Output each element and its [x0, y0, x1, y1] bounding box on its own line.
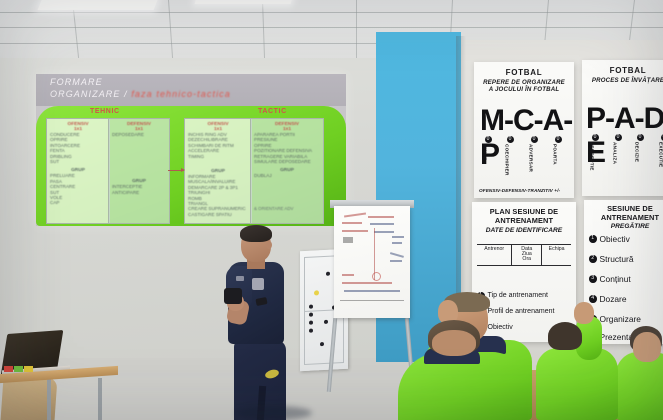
table-header-echipa: Echipa [542, 245, 571, 265]
block-item: DEPOSEDARE [109, 132, 169, 137]
poster-column-minge: 0 MINGE [482, 136, 494, 161]
block-item: SIMULARE DEPOSEDARE [251, 159, 323, 164]
list-item-label: Organizare [600, 314, 641, 324]
poster-column-perceptie: 0 PERCEPTIE [589, 134, 601, 171]
column-word: DECIZIE [634, 142, 639, 162]
participant-hair [548, 322, 582, 350]
identification-table: Antrenor Data Ziua Ora Echipa [477, 244, 571, 266]
bullet-dot: 0 [531, 136, 538, 143]
slide-title-formare: FORMARE [50, 77, 103, 87]
participant-head [633, 332, 661, 362]
slide-block-tactic-ofensiv: OFENSIV 1x1 INCHIS RING ADV DEZECHILIBRA… [184, 118, 252, 224]
poster-column-decizie: 0 DECIZIE [634, 134, 646, 162]
poster-list-item: 1 Obiectiv [589, 234, 630, 244]
slide-block-tehnic-defensiv: DEFENSIV 1x1 DEPOSEDARE GRUP INTERCEPTIE… [108, 118, 170, 224]
ceiling-light [195, 0, 294, 4]
poster-column-coechipier: 0 COECHIPIER [504, 136, 516, 176]
table-header-antrenor: Antrenor [477, 245, 511, 265]
poster-subtitle: REPERE DE ORGANIZARE A JOCULUI ÎN FOTBAL [480, 79, 568, 94]
ceiling-light [38, 0, 159, 10]
poster-list-item: 2 Structură [589, 254, 633, 264]
block-group-item: DUBLAJ [251, 173, 323, 178]
poster-column-executie: 0 EXECUTIE [658, 134, 663, 167]
bullet-number: 4 [589, 295, 597, 303]
bullet-number: 1 [589, 235, 597, 243]
shirt-badge [236, 276, 244, 281]
slide-organizare-text: ORGANIZARE / [50, 89, 128, 99]
slide-footer-note: & ORIENTARE ADV [254, 206, 293, 211]
classroom-photo: FORMARE ORGANIZARE / faza tehnico-tactic… [0, 0, 663, 420]
bullet-dot: 0 [555, 136, 562, 143]
list-item-label: Tip de antrenament [488, 292, 548, 299]
column-word: POARTA [552, 144, 557, 165]
list-item-label: Profil de antrenament [488, 308, 555, 315]
block-group-item: ANTICIPARE [109, 190, 169, 195]
column-word: MINGE [482, 144, 487, 161]
poster-phase-note: OFENSIV-DEFENSIV-TRANZITIV +/- [479, 188, 560, 193]
table-cell: Ora [522, 256, 531, 262]
column-word: EXECUTIE [658, 142, 663, 167]
participant-hand [574, 302, 594, 324]
poster-column-analiza: 0 ANALIZA [612, 134, 624, 164]
poster-pade: FOTBAL PROCES DE ÎNVĂȚARE P-A-D-E 0 PERC… [582, 60, 663, 196]
block-group-item: CAP [47, 200, 109, 205]
participant-jacket [536, 348, 618, 420]
poster-subtitle: PREGĂTIRE [584, 223, 663, 230]
bullet-dot: 0 [592, 134, 599, 141]
presenter-hair [240, 225, 272, 242]
list-item-label: Conținut [600, 274, 631, 284]
table-header-data: Data Ziua Ora [511, 245, 542, 265]
bullet-dot: 0 [485, 136, 492, 143]
block-item: TIMING [185, 154, 251, 159]
list-item-label: Structură [600, 254, 634, 264]
slide-section-tehnic: TEHNIC [90, 108, 120, 115]
column-word: ADVERSAR [528, 144, 533, 172]
slide-title-red: faza tehnico-tactica [131, 89, 231, 99]
slide-body: TEHNIC TACTIC OFENSIV 1x1 CONDUCERE OPRI… [36, 106, 346, 226]
desk-leg [47, 378, 51, 420]
poster-title: SESIUNE DE ANTRENAMENT [588, 205, 663, 222]
bullet-number: 3 [589, 275, 597, 283]
column-word: COECHIPIER [504, 144, 509, 176]
sticker-yellow [24, 366, 33, 372]
poster-column-adversar: 0 ADVERSAR [528, 136, 540, 172]
bullet-dot: 0 [615, 134, 622, 141]
poster-kicker: FOTBAL [582, 66, 663, 75]
poster-list-item: 3 Conținut [589, 274, 631, 284]
presenter-ear [266, 241, 272, 249]
projection-screen: FORMARE ORGANIZARE / faza tehnico-tactic… [36, 74, 346, 226]
poster-kicker: FOTBAL [474, 68, 574, 77]
shirt-crest [252, 278, 264, 290]
list-item-label: Obiectiv [488, 324, 513, 331]
poster-mcap: FOTBAL REPERE DE ORGANIZARE A JOCULUI ÎN… [474, 62, 574, 198]
poster-list-item: 2 Profil de antrenament [477, 308, 554, 316]
column-word: ANALIZA [612, 142, 617, 164]
poster-column-poarta: 0 POARTA [552, 136, 564, 165]
bullet-dot: 0 [507, 136, 514, 143]
slide-section-tactic: TACTIC [258, 108, 287, 115]
desk-leg [98, 378, 102, 420]
slide-block-tehnic-ofensiv: OFENSIV 1x1 CONDUCERE OPRIRE INTOARCERE … [46, 118, 110, 224]
flipchart-paper [334, 206, 410, 318]
column-word: PERCEPTIE [589, 142, 594, 171]
block-item: SUT [47, 159, 109, 164]
poster-title: PLAN SESIUNE DE ANTRENAMENT [477, 208, 571, 225]
slide-arrow [168, 170, 184, 171]
poster-list-item: 4 Dozare [589, 294, 627, 304]
sticker-green [14, 366, 23, 372]
list-item-label: Dozare [600, 294, 627, 304]
bullet-number: 2 [589, 255, 597, 263]
participant-jacket [616, 352, 663, 420]
cable-stickers [4, 366, 38, 372]
participant-head [432, 330, 476, 356]
presenter-clicker [224, 288, 242, 304]
poster-subtitle: DATE DE IDENTIFICARE [472, 227, 576, 234]
list-item-label: Obiectiv [600, 234, 630, 244]
poster-subtitle: PROCES DE ÎNVĂȚARE [586, 77, 663, 84]
floor-shadow [236, 406, 312, 420]
block-group-item: CASTIGARE SPATIU [185, 212, 251, 217]
circled-annotation [372, 272, 381, 281]
slide-title-organizare: ORGANIZARE / faza tehnico-tactica [50, 89, 231, 99]
sticker-red [4, 366, 13, 372]
bullet-dot: 0 [637, 134, 644, 141]
